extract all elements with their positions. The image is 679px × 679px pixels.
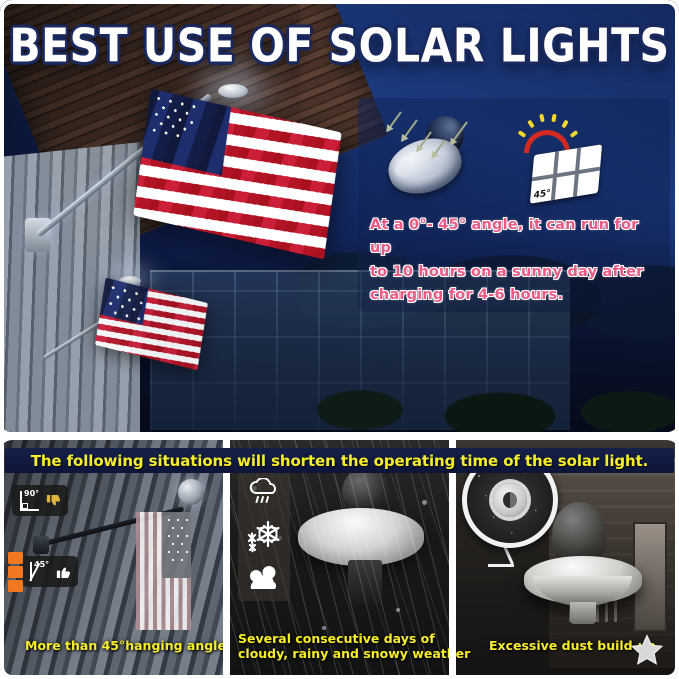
runtime-description: At a 0°- 45° angle, it can run for up to… — [370, 214, 662, 308]
panel-separator — [223, 440, 230, 679]
angle-label-90: 90° — [24, 489, 39, 498]
rain-cloud-icon — [247, 478, 281, 508]
brick — [8, 566, 23, 578]
solar-panel-hub — [493, 483, 527, 517]
flagpole-bracket — [33, 536, 49, 554]
runtime-callout-box: 45° At a 0°- 45° angle, it can run for u… — [358, 98, 670, 312]
warning-banner: The following situations will shorten th… — [5, 448, 674, 473]
cloudy-icon — [246, 565, 282, 591]
sun-ray-tick — [551, 114, 556, 123]
sun-ray-tick — [570, 130, 579, 138]
warning-banner-text: The following situations will shorten th… — [31, 452, 649, 470]
sun-ray-arrow-icon — [401, 119, 418, 141]
right-angle-icon: 90° — [18, 490, 40, 512]
brick — [8, 580, 23, 592]
solar-panel-icon: 45° — [530, 144, 602, 203]
angle-horizontal-line — [20, 509, 39, 511]
rain-drop — [322, 626, 326, 630]
panel-angle-label: 45° — [533, 188, 551, 201]
star-icon — [630, 633, 664, 667]
right-angle-square — [22, 503, 28, 509]
brick — [8, 552, 23, 564]
panel-gap-strip — [0, 432, 679, 440]
solar-light-head-large — [218, 84, 248, 98]
panel-grid-line — [532, 167, 600, 181]
tilted-solar-light-icon — [382, 110, 490, 202]
runtime-line-3: charging for 4-6 hours. — [370, 284, 662, 307]
solar-light-head — [178, 479, 204, 505]
thumbs-up-icon — [55, 564, 72, 580]
sun-ray-tick — [527, 120, 535, 129]
thumbs-down-icon — [45, 493, 62, 509]
callout-icon-row: 45° — [358, 102, 670, 206]
panel-separator — [449, 440, 456, 679]
angle-badge-90: 90° — [12, 485, 68, 516]
angle-badge-45: 45° — [22, 556, 78, 587]
caption-bad-weather: Several consecutive days of cloudy, rain… — [238, 631, 470, 662]
caption-hanging-angle: More than 45°hanging angle — [25, 638, 226, 653]
infographic-page: 45° At a 0°- 45° angle, it can run for u… — [0, 0, 679, 679]
rain-drop — [396, 608, 400, 612]
acute-angle-icon: 45° — [28, 561, 50, 583]
caption-line-1: Several consecutive days of — [238, 631, 470, 646]
flag-canton — [162, 512, 191, 578]
page-title: BEST USE OF SOLAR LIGHTS — [0, 19, 679, 73]
magnifier-pointer-line — [488, 564, 514, 567]
solar-light-product — [524, 502, 642, 632]
american-flag-hanging — [136, 512, 191, 630]
brick-stack-icon — [8, 552, 23, 592]
caption-line-2: cloudy, rainy and snowy weather — [238, 646, 470, 661]
angle-label-45: 45° — [34, 560, 49, 569]
sun-ray-tick — [539, 114, 545, 123]
snowflake-icon — [244, 518, 284, 554]
sun-ray-arrow-icon — [386, 111, 402, 132]
rain-drop — [422, 500, 427, 505]
garden-shrubs — [300, 350, 679, 432]
runtime-line-2: to 10 hours on a sunny day after — [370, 261, 662, 284]
sun-solar-panel-icon: 45° — [508, 110, 614, 202]
sun-ray-tick — [518, 130, 527, 138]
weather-icon-strip — [238, 468, 290, 601]
sun-ray-tick — [561, 120, 568, 129]
lamp-stem — [570, 602, 596, 624]
runtime-line-1: At a 0°- 45° angle, it can run for up — [370, 214, 662, 261]
hero-panel: 45° At a 0°- 45° angle, it can run for u… — [0, 0, 679, 432]
